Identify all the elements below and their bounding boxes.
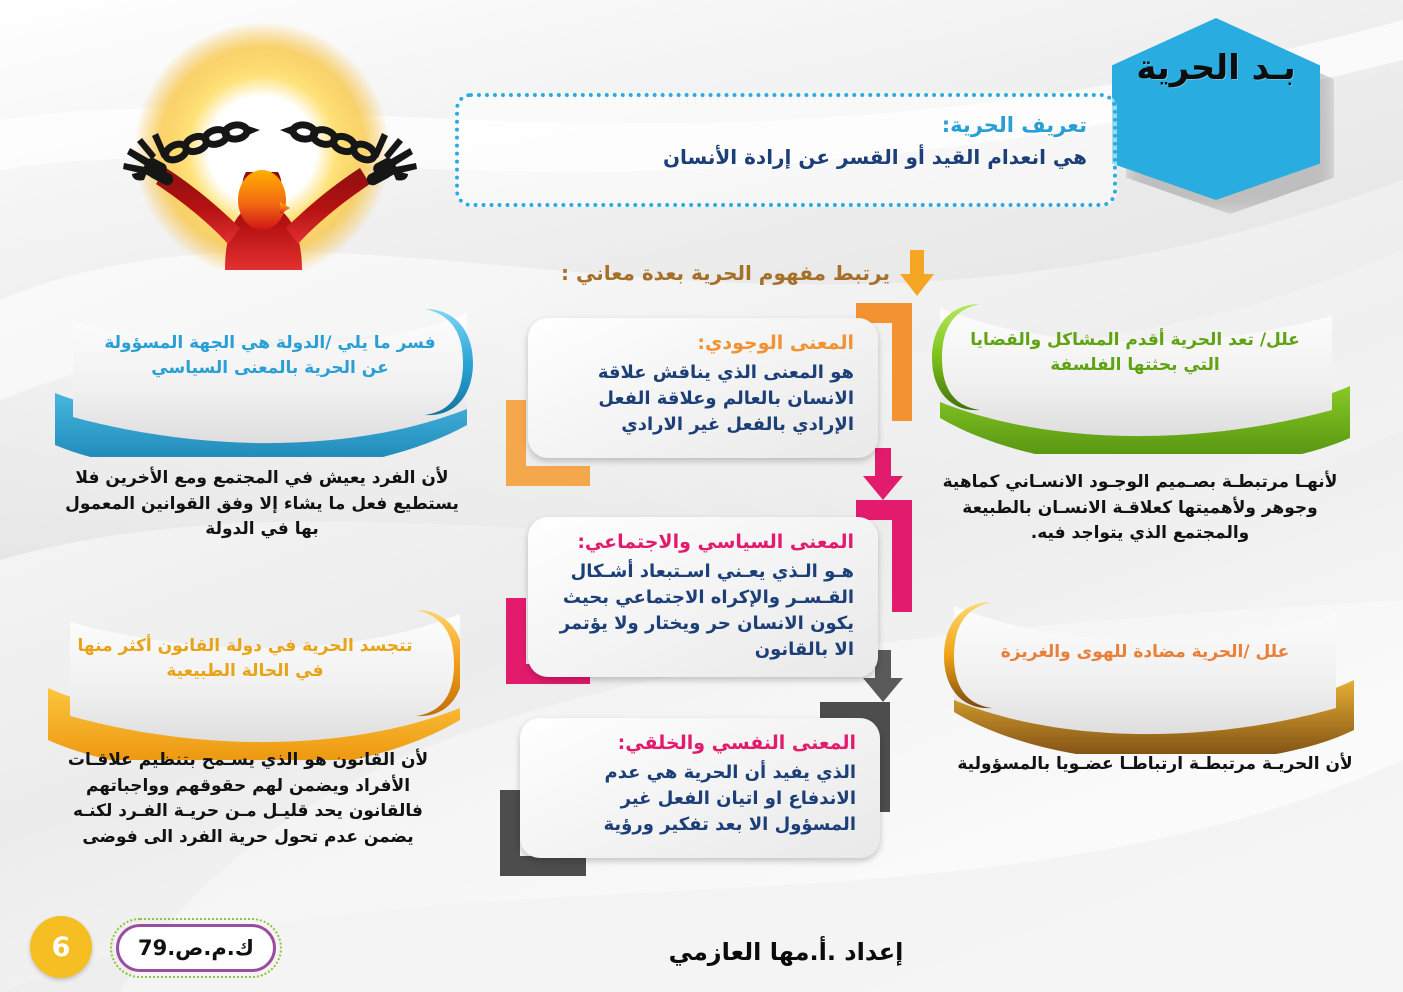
author-credit: إعداد .أ.مها العازمي <box>586 938 986 966</box>
ribbon-right-1[interactable]: علل/ تعد الحرية أقدم المشاكل والقضايا ال… <box>920 302 1350 454</box>
meaning-card-1[interactable]: المعنى الوجودي: هو المعنى الذي يناقش علا… <box>528 318 878 458</box>
down-arrow-icon <box>900 250 934 296</box>
page-number-badge: 6 <box>30 916 92 978</box>
meaning-card-1-body: هو المعنى الذي يناقش علاقة الانسان بالعا… <box>552 360 854 438</box>
definition-box: تعريف الحرية: هي انعدام القيد أو القسر ع… <box>455 93 1117 207</box>
page-title: بـد الحرية <box>1136 48 1295 88</box>
slide-canvas: بـد الحرية تعريف الحرية: هي انعدام القيد… <box>0 0 1403 992</box>
connector-arrow-1 <box>863 448 903 500</box>
ribbon-left-2[interactable]: تتجسد الحرية في دولة القانون أكثر منها ف… <box>30 608 460 760</box>
meaning-card-2-body: هـو الـذي يعـني اسـتبعاد أشـكال القـسـر … <box>552 559 854 663</box>
meaning-card-3-title: المعنى النفسي والخلقي: <box>544 732 856 754</box>
page-title-badge: بـد الحرية <box>1112 18 1348 218</box>
note-left-2: لأن القانون هو الذي يسـمح بتنظيم علاقـات… <box>48 748 448 850</box>
meaning-card-2[interactable]: المعنى السياسي والاجتماعي: هـو الـذي يعـ… <box>528 517 878 677</box>
note-left-1: لأن الفرد يعيش في المجتمع ومع الأخرين فل… <box>62 466 462 543</box>
meaning-card-3-body: الذي يفيد أن الحرية هي عدم الاندفاع او ا… <box>544 760 856 838</box>
center-headline: يرتبط مفهوم الحرية بعدة معاني : <box>534 248 934 298</box>
reference-pill: ك.م.ص.79 <box>110 918 282 978</box>
meaning-card-3[interactable]: المعنى النفسي والخلقي: الذي يفيد أن الحر… <box>520 718 880 858</box>
definition-title: تعريف الحرية: <box>485 113 1087 137</box>
badge-hexagon: بـد الحرية <box>1112 18 1320 200</box>
definition-body: هي انعدام القيد أو القسر عن إرادة الأنسا… <box>485 145 1087 169</box>
center-headline-text: يرتبط مفهوم الحرية بعدة معاني : <box>561 261 890 285</box>
ribbon-right-2[interactable]: علل /الحرية مضادة للهوى والغريزة <box>930 602 1360 754</box>
ribbon-left-1[interactable]: فسر ما يلي /الدولة هي الجهة المسؤولة عن … <box>55 305 485 457</box>
note-right-1: لأنهـا مرتبطـة بصـميم الوجـود الانسـاني … <box>940 470 1340 547</box>
broken-chains-silhouette-icon <box>100 18 440 270</box>
meaning-card-1-title: المعنى الوجودي: <box>552 332 854 354</box>
meaning-card-2-title: المعنى السياسي والاجتماعي: <box>552 531 854 553</box>
note-right-2: لأن الحريـة مرتبطـة ارتباطـا عضـويا بالم… <box>955 752 1355 778</box>
reference-text: ك.م.ص.79 <box>116 924 276 972</box>
